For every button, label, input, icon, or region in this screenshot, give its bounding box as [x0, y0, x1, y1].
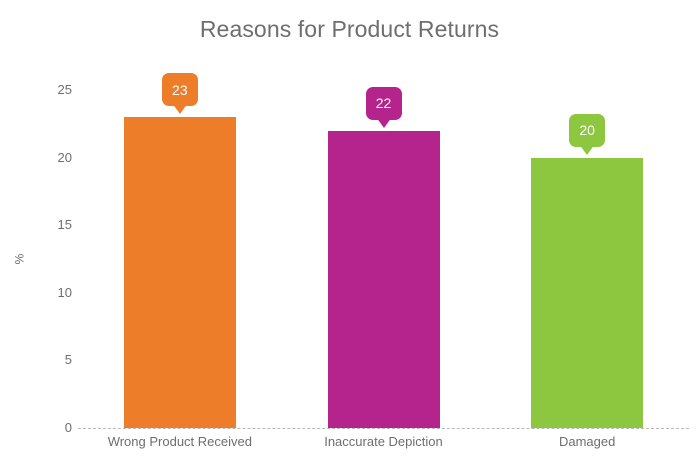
bar-chart: Reasons for Product Returns % 0510152025…	[0, 0, 699, 472]
x-tick-label: Wrong Product Received	[78, 434, 282, 449]
x-tick-label: Inaccurate Depiction	[282, 434, 486, 449]
y-tick-label: 20	[30, 151, 72, 164]
data-label-pin: 22	[366, 87, 402, 120]
bar[interactable]	[124, 117, 236, 428]
y-tick-label: 0	[30, 421, 72, 434]
y-axis-title: %	[12, 254, 26, 265]
y-tick-label: 5	[30, 353, 72, 366]
y-tick-label: 15	[30, 218, 72, 231]
y-tick-label: 25	[30, 83, 72, 96]
bar[interactable]	[531, 158, 643, 428]
y-tick-label: 10	[30, 286, 72, 299]
data-label-pin: 20	[569, 114, 605, 147]
data-label-pin: 23	[162, 73, 198, 106]
x-tick-label: Damaged	[485, 434, 689, 449]
bar[interactable]	[328, 131, 440, 428]
chart-title: Reasons for Product Returns	[0, 16, 699, 43]
